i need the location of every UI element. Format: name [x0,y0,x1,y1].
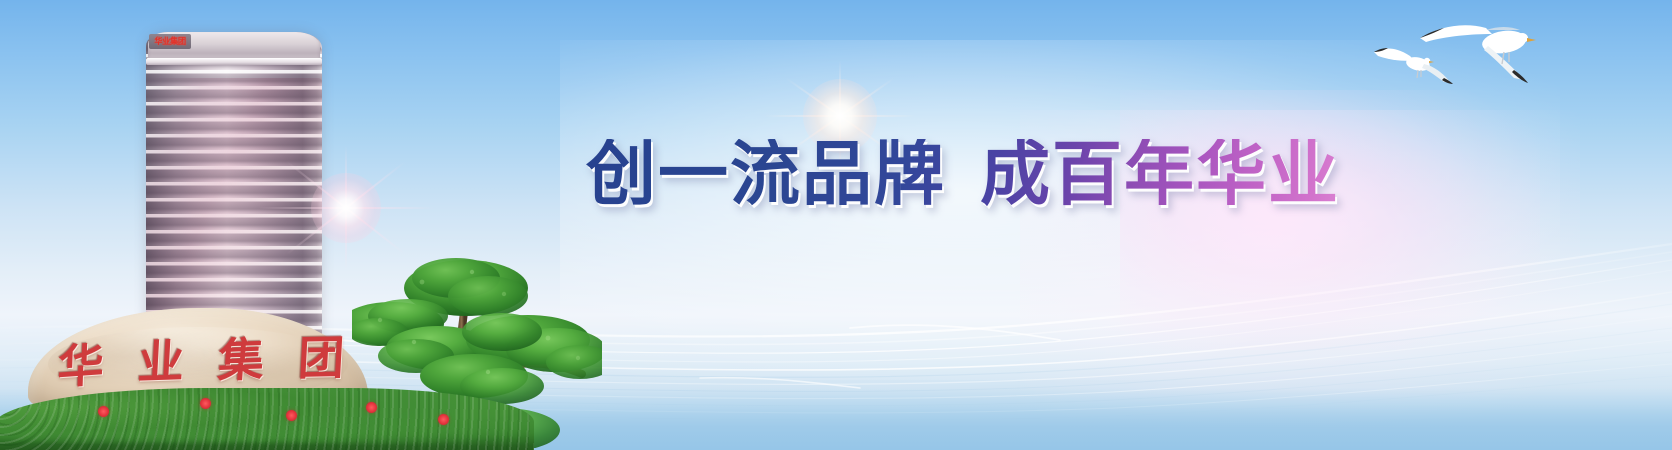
headline-slogan: 创一流品牌成百年华业 [586,128,1366,220]
sun-core [803,79,877,153]
tower-crown-lip [146,58,322,65]
sky-haze-pink-glow [1020,110,1580,430]
seagulls-group [1368,4,1568,116]
glare-ray [345,145,347,271]
tower-glass-tint [146,78,322,328]
headline-glow [1120,90,1540,350]
sun-ray [839,60,841,172]
hedge-flower [200,398,211,409]
headline-part-1: 创一流品牌 [586,133,946,215]
seagull-large [1420,25,1536,83]
hedge-row [0,388,534,450]
sky-haze-glow [560,40,1560,380]
headline-text: 创一流品牌成百年华业 [586,139,1340,209]
hedge-flower [98,406,109,417]
seagull-small [1374,48,1453,84]
hedge-leaf-texture [0,388,534,450]
hedge-flower [438,414,449,425]
rooftop-sign: 华业集团 [149,34,191,49]
sun-ray [785,77,894,154]
sun-flare-icon [762,38,918,194]
headline-part-2: 成百年华业 [980,133,1340,215]
hedge-flower [366,402,377,413]
hedge-flower [286,410,297,421]
sun-ray [785,77,894,154]
office-tower: 华业集团 [138,18,328,348]
company-banner: 华业集团 华 业 集 团 [0,0,1672,450]
sun-ray [764,115,916,117]
rooftop-sign-text: 华业集团 [154,37,185,45]
